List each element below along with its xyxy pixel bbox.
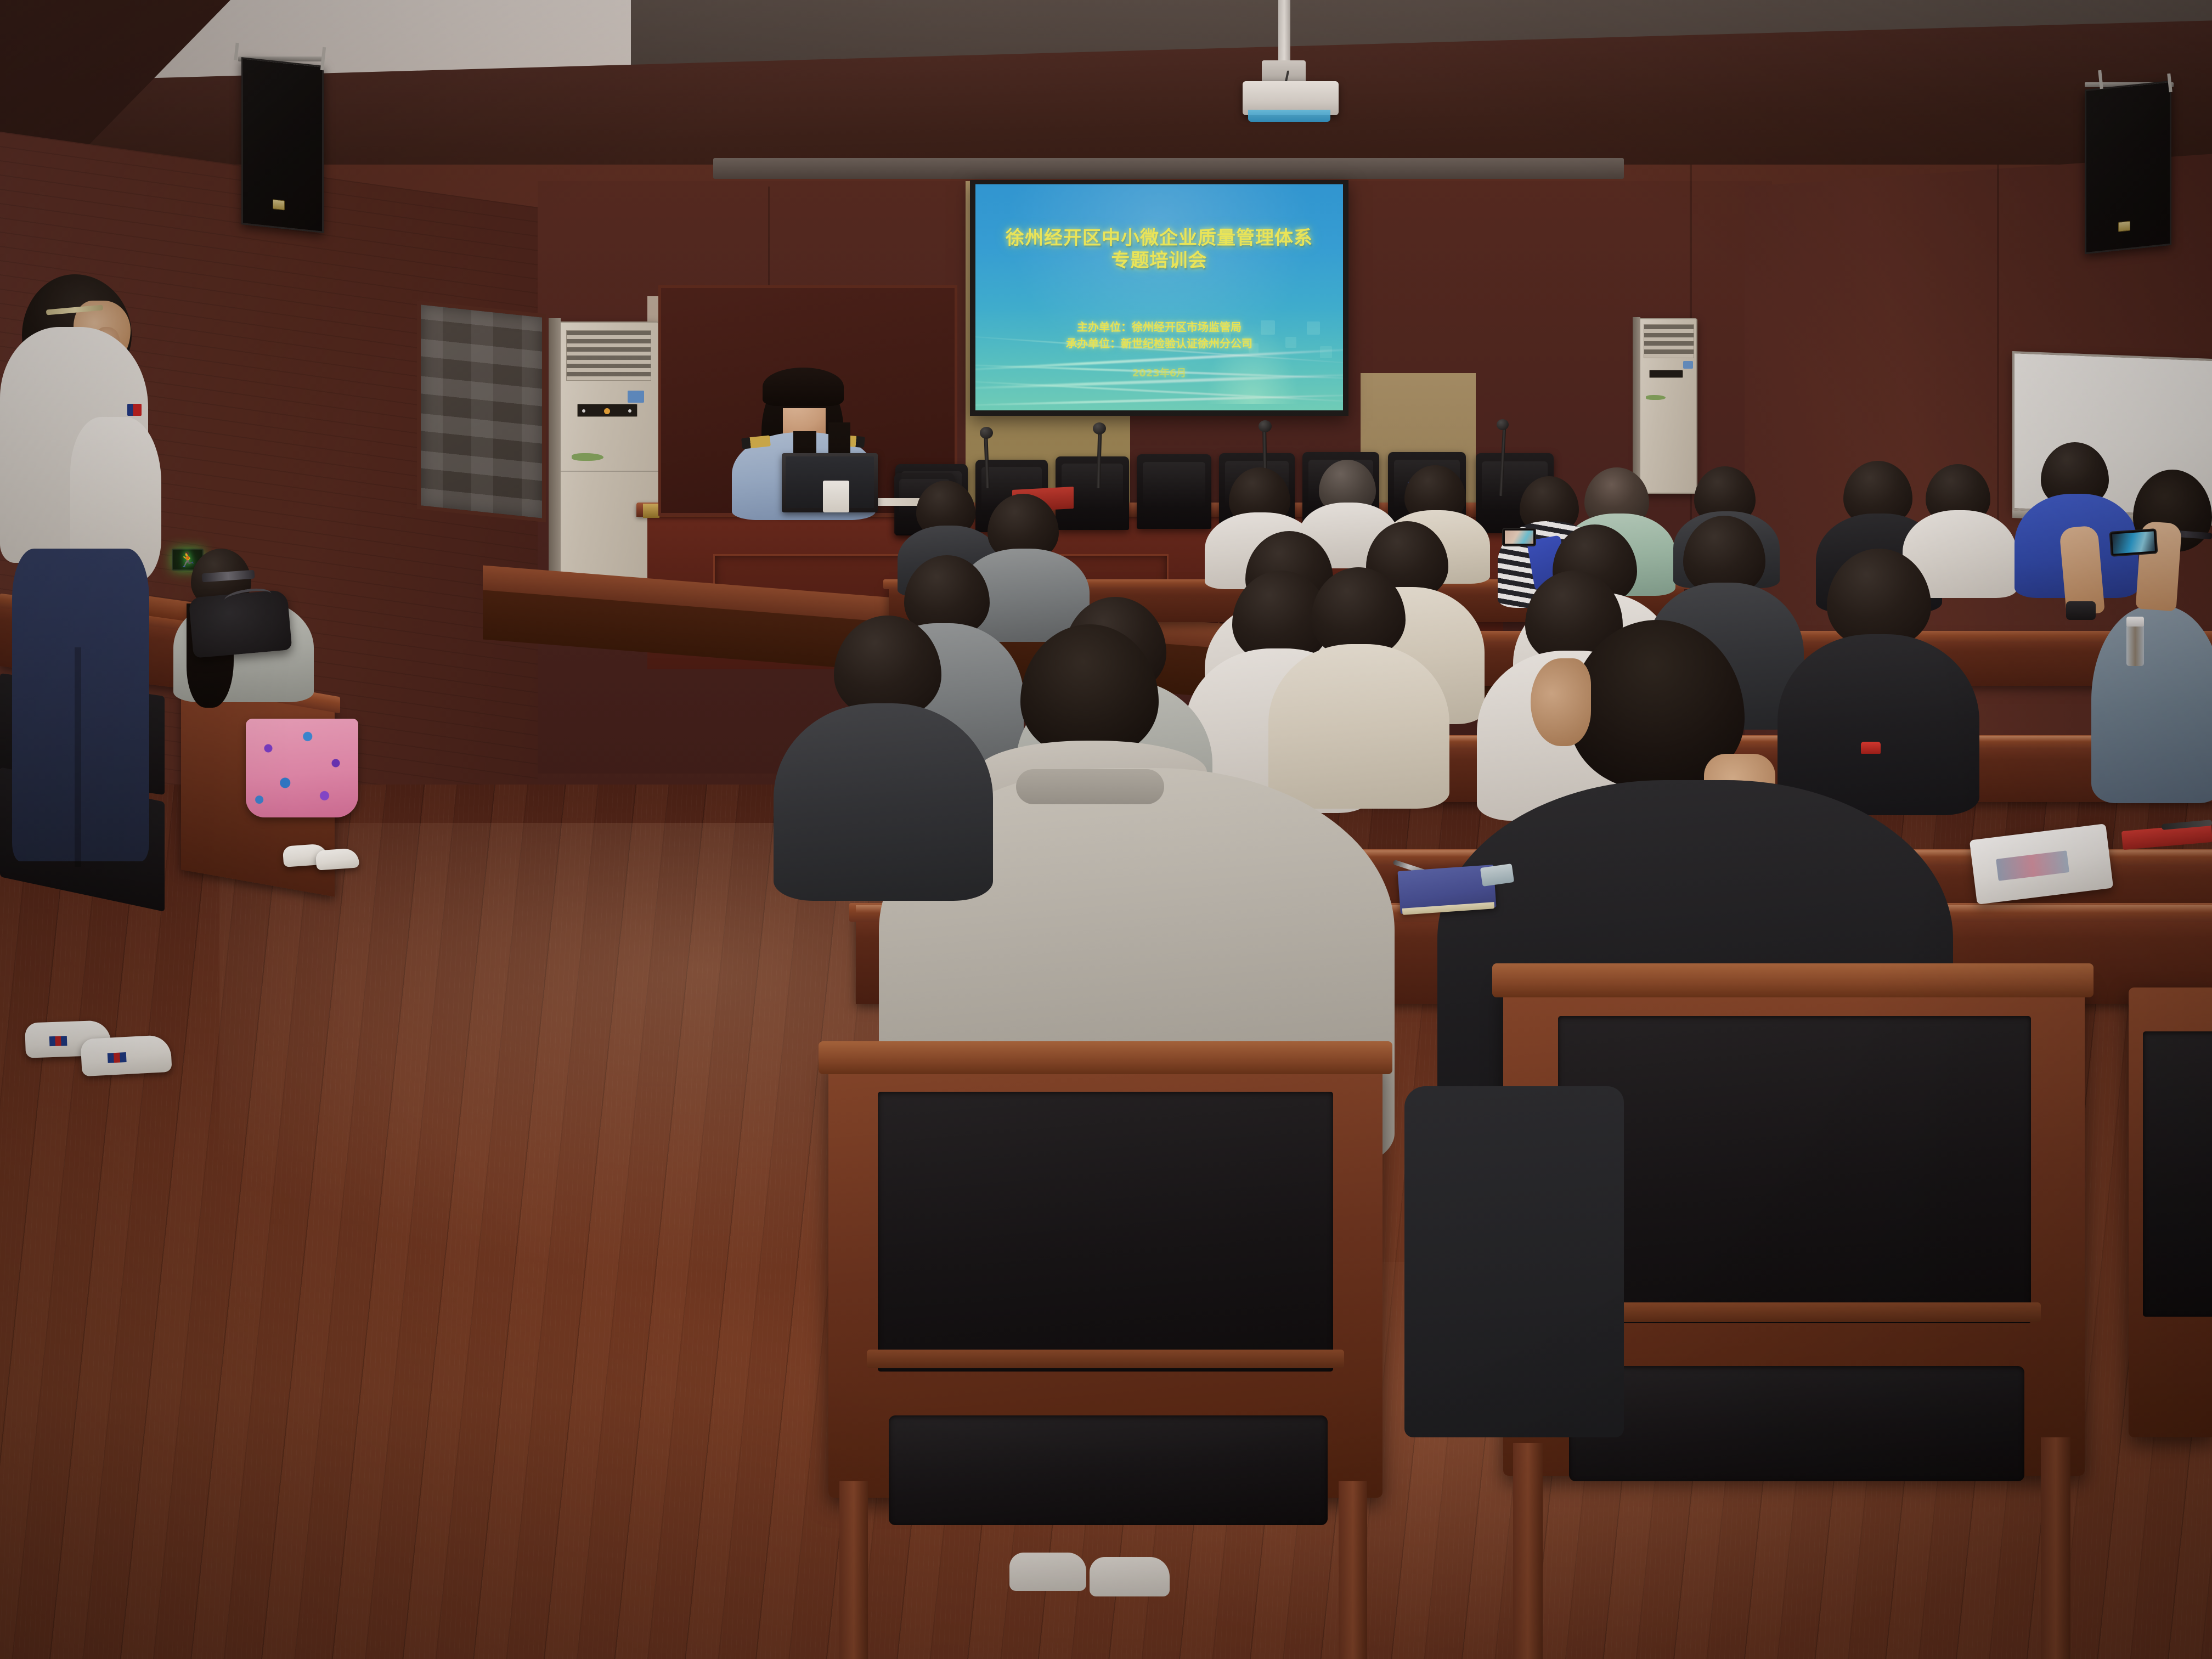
speaker-badge-left (273, 199, 285, 210)
floor-standing-air-conditioner-right (1638, 318, 1697, 494)
attendee-shoe (1009, 1553, 1086, 1591)
attendee-body (774, 703, 993, 901)
ac-display-right (1649, 370, 1683, 378)
ac-sticker-left (628, 391, 644, 403)
slide-organizer: 主办单位：徐州经开区市场监管局 (975, 319, 1343, 335)
slide-host: 承办单位：新世纪检验认证徐州分公司 (975, 335, 1343, 352)
slide-title-line1: 徐州经开区中小微企业质量管理体系 (975, 227, 1343, 250)
seated-woman-skirt (246, 719, 358, 817)
presenter-paper (823, 481, 849, 512)
slide-date: 2023年6月 (975, 365, 1343, 380)
foreground-chair-rail (867, 1350, 1344, 1368)
projector-lens (1248, 110, 1330, 122)
foreground-chair-2-seat (1569, 1366, 2024, 1481)
ac-right-side (1633, 317, 1640, 494)
microphone-head (980, 427, 993, 439)
microphone-head (1259, 420, 1272, 432)
standing-man-logo (127, 404, 142, 416)
attendee-photographer-body (2091, 606, 2212, 803)
wall-panel-frame (417, 301, 546, 523)
projection-screen[interactable]: 徐州经开区中小微企业质量管理体系 专题培训会 主办单位：徐州经开区市场监管局 承… (975, 184, 1343, 410)
floor-standing-air-conditioner-left (557, 321, 659, 612)
ac-indicator-2 (582, 409, 585, 413)
microphone-head (1093, 422, 1106, 435)
smartphone[interactable] (1502, 528, 1536, 546)
ac-indicator-light (604, 408, 610, 414)
wristwatch (2066, 601, 2096, 620)
ac-seam (558, 471, 660, 472)
stage-chair[interactable] (1137, 454, 1211, 529)
wall-panel-grid (421, 304, 542, 518)
water-bottle-cap (2126, 617, 2144, 627)
attendee-hoodie-collar (1016, 769, 1164, 804)
speaker-badge-right (2118, 221, 2130, 232)
attendee-body (1268, 644, 1449, 809)
seated-woman-shoe-2 (315, 848, 359, 870)
foreground-chair-back-pad (878, 1092, 1333, 1372)
foreground-chair-2-leg (2041, 1437, 2070, 1659)
phone-screen (2112, 531, 2155, 554)
black-backpack (189, 589, 292, 658)
presenter-hair-top (763, 368, 844, 406)
foreground-chair-leg (839, 1481, 868, 1659)
wall-speaker-right (2085, 81, 2171, 255)
projector-mount-pole (1278, 0, 1290, 66)
running-man-icon: 🏃 (179, 552, 196, 567)
wall-seam (1997, 165, 1999, 560)
ac-decal-left (572, 453, 603, 461)
foreground-chair-crest (819, 1041, 1392, 1074)
foreground-chair-3-pad (2143, 1031, 2212, 1317)
slide-subtitle: 主办单位：徐州经开区市场监管局 承办单位：新世纪检验认证徐州分公司 (975, 319, 1343, 352)
attendee-shoe-2 (1090, 1557, 1170, 1596)
phone-screen (1505, 531, 1533, 544)
red-object (1861, 742, 1881, 754)
shoe-logo-2 (108, 1052, 127, 1063)
ac-sticker-right (1683, 361, 1693, 369)
attendee-body (1778, 634, 1979, 815)
foreground-chair-2-leg (1513, 1443, 1543, 1659)
slide-title-line2: 专题培训会 (975, 250, 1343, 272)
slide-title: 徐州经开区中小微企业质量管理体系 专题培训会 (975, 227, 1343, 273)
ac-left-side (549, 318, 561, 614)
ac-indicator-3 (628, 409, 631, 413)
ac-display-left (577, 404, 637, 417)
foreground-chair-2-back-pad (1558, 1016, 2031, 1323)
microphone-head (1497, 419, 1509, 430)
conference-room-photo: 徐州经开区中小微企业质量管理体系 专题培训会 主办单位：徐州经开区市场监管局 承… (0, 0, 2212, 1659)
foreground-chair-2-crest (1492, 963, 2093, 997)
water-bottle (2126, 624, 2144, 666)
foreground-chair-leg (1339, 1481, 1367, 1659)
ac-decal-right (1646, 395, 1666, 400)
standing-man-pants-seam (75, 647, 81, 867)
attendee-black-ear (1531, 658, 1591, 746)
ac-vent-left (566, 330, 651, 381)
smartphone-recording[interactable] (2109, 528, 2158, 557)
ac-vent-right (1644, 324, 1694, 358)
standing-man-shoe-right (80, 1035, 172, 1076)
wall-speaker-left (241, 57, 324, 233)
projection-screen-housing (713, 158, 1624, 179)
foreground-chair-seat (889, 1415, 1328, 1525)
shoe-logo (49, 1036, 67, 1046)
attendee-legs (1404, 1086, 1624, 1437)
head-table-gold-corner-left (643, 504, 659, 518)
